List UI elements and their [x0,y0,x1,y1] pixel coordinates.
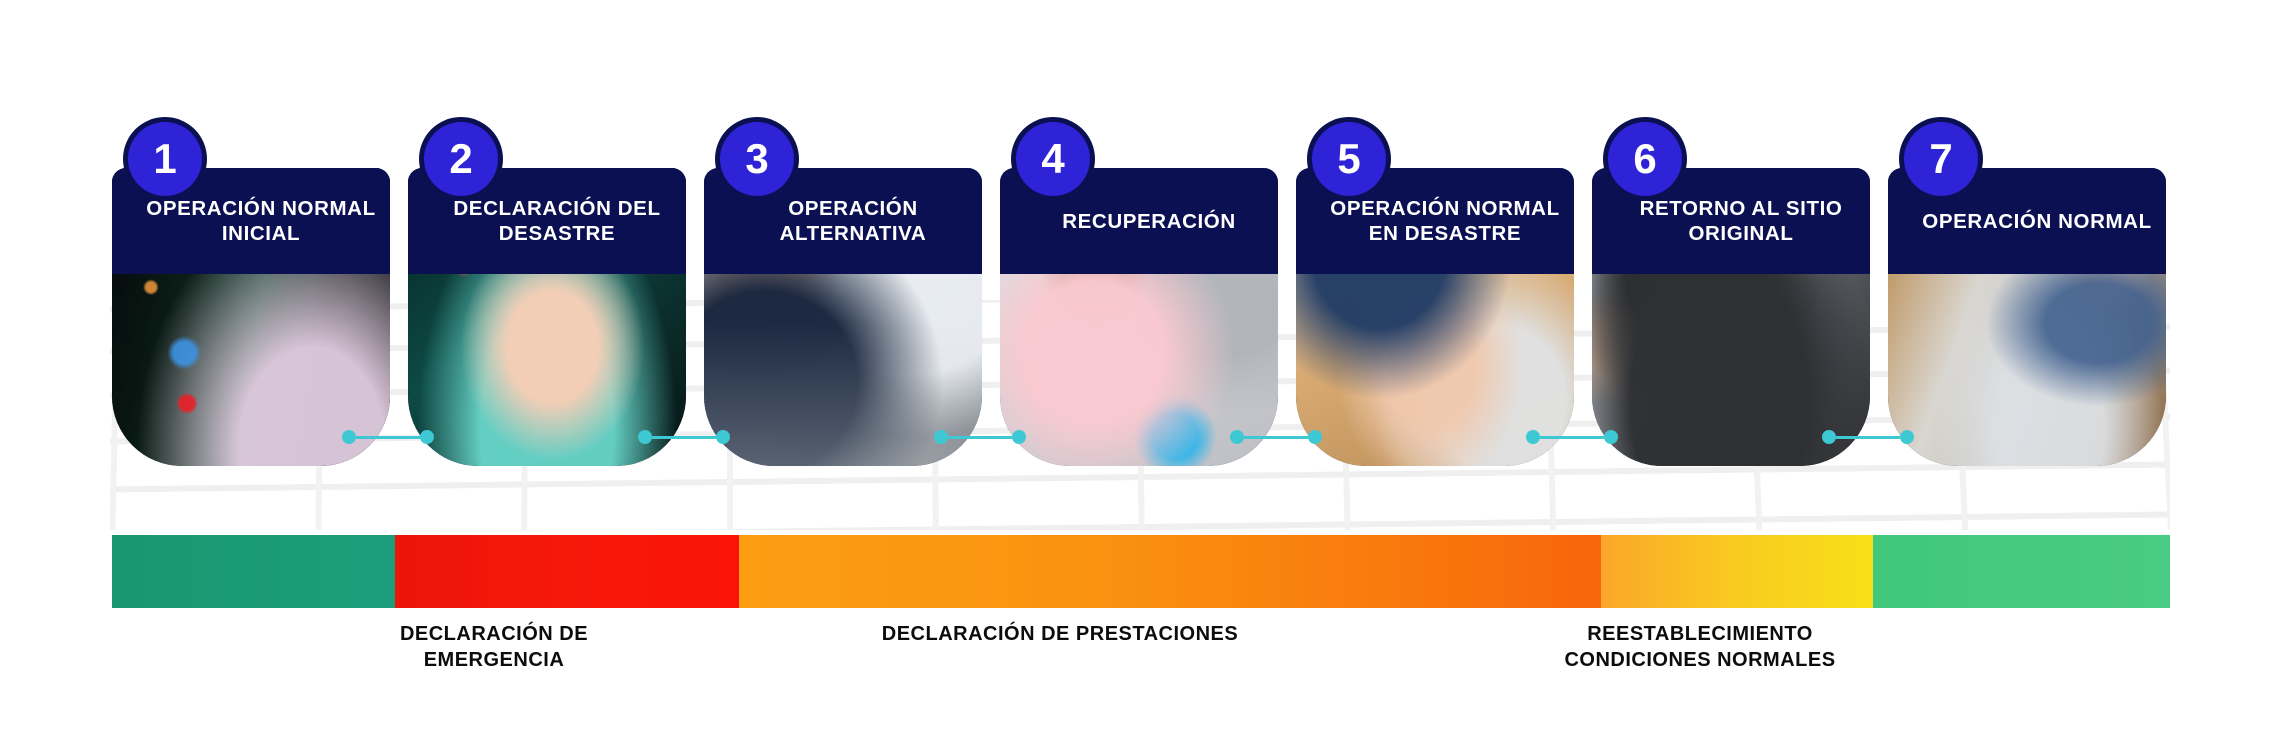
connector-dot-left [934,430,948,444]
step-title-3: OPERACIÓN ALTERNATIVA [746,196,941,246]
step-title-1: OPERACIÓN NORMAL INICIAL [112,196,389,246]
step-number-4: 4 [1041,138,1064,180]
step-connector-3-4 [934,430,1026,444]
connector-line [948,436,1012,439]
phase-label-reestablecimiento: REESTABLECIMIENTO CONDICIONES NORMALES [1450,622,1950,673]
step-connector-4-5 [1230,430,1322,444]
step-number-1: 1 [153,138,176,180]
step-number-7: 7 [1929,138,1952,180]
steps-row: OPERACIÓN NORMAL INICIAL 1 DECLARACIÓN D… [0,0,2280,500]
step-number-2: 2 [449,138,472,180]
connector-line [1244,436,1308,439]
phase-labels: DECLARACIÓN DE EMERGENCIA DECLARACIÓN DE… [0,622,2280,712]
connector-dot-right [716,430,730,444]
connector-dot-left [638,430,652,444]
connector-dot-right [1308,430,1322,444]
connector-dot-left [1526,430,1540,444]
step-connector-2-3 [638,430,730,444]
step-badge-6: 6 [1608,122,1682,196]
connector-dot-left [342,430,356,444]
step-number-6: 6 [1633,138,1656,180]
step-connector-6-7 [1822,430,1914,444]
connector-line [356,436,420,439]
connector-dot-right [1012,430,1026,444]
connector-dot-left [1230,430,1244,444]
step-badge-2: 2 [424,122,498,196]
connector-dot-left [1822,430,1836,444]
phase-label-prestaciones: DECLARACIÓN DE PRESTACIONES [730,622,1390,648]
phase-gradient-bar [112,535,2170,608]
step-badge-7: 7 [1904,122,1978,196]
connector-dot-right [1604,430,1618,444]
connector-line [652,436,716,439]
step-title-2: DECLARACIÓN DEL DESASTRE [419,196,674,246]
bar-segment-recovered-green [1873,535,2170,608]
step-title-5: OPERACIÓN NORMAL EN DESASTRE [1296,196,1573,246]
step-number-3: 3 [745,138,768,180]
step-badge-1: 1 [128,122,202,196]
step-title-4: RECUPERACIÓN [1028,209,1250,234]
step-number-5: 5 [1337,138,1360,180]
step-title-6: RETORNO AL SITIO ORIGINAL [1606,196,1857,246]
step-title-7: OPERACIÓN NORMAL [1888,209,2165,234]
step-badge-3: 3 [720,122,794,196]
connector-dot-right [1900,430,1914,444]
step-connector-5-6 [1526,430,1618,444]
bar-segment-service-orange [739,535,1601,608]
step-badge-5: 5 [1312,122,1386,196]
bar-segment-emergency-red [395,535,739,608]
step-connector-1-2 [342,430,434,444]
bar-segment-restoration-yellow [1601,535,1873,608]
connector-line [1540,436,1604,439]
connector-dot-right [420,430,434,444]
connector-line [1836,436,1900,439]
bar-segment-normal-green [112,535,395,608]
step-badge-4: 4 [1016,122,1090,196]
phase-label-emergency: DECLARACIÓN DE EMERGENCIA [319,622,669,673]
